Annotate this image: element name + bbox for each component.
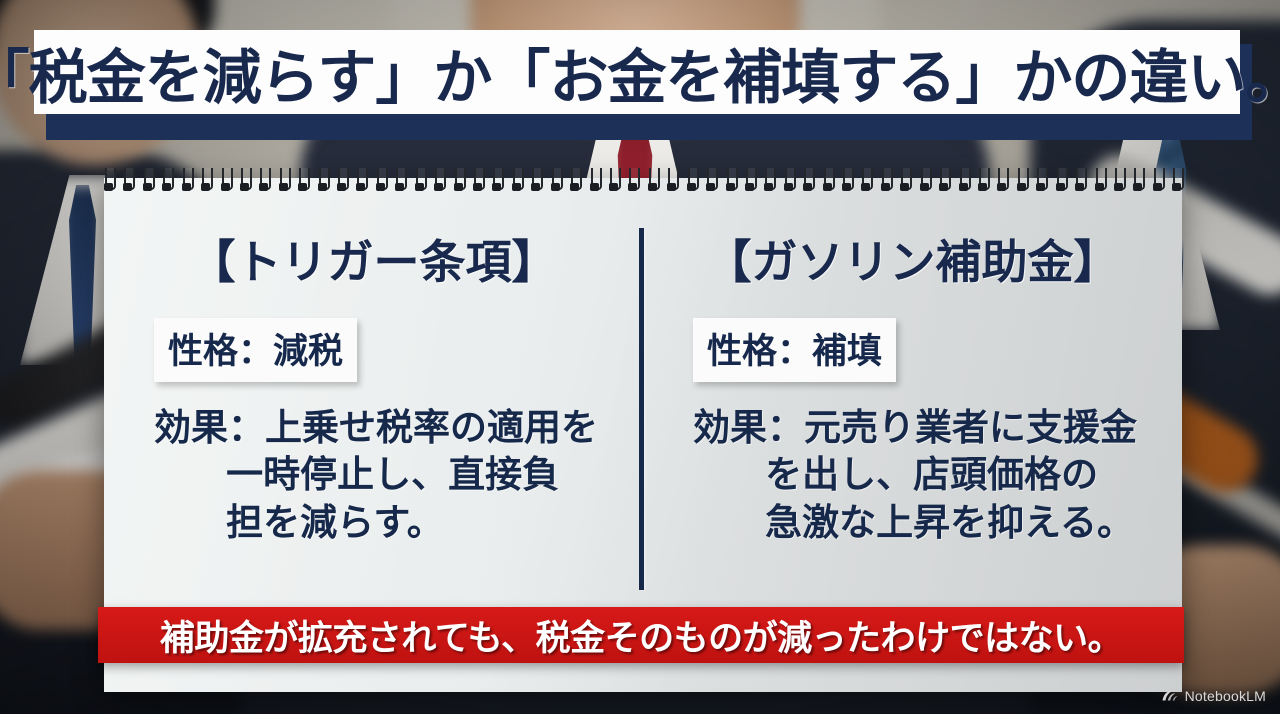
spiral-ring-icon [628, 168, 637, 194]
effect-line: を出し、店頭価格の [765, 451, 1154, 498]
spiral-ring-icon [201, 168, 210, 194]
spiral-ring-icon [959, 168, 968, 194]
spiral-ring-icon [492, 168, 501, 194]
spiral-ring-icon [162, 168, 171, 194]
spiral-ring-icon [240, 168, 249, 194]
column-gasoline-subsidy: 【ガソリン補助金】 性格：補填 効果：元売り業者に支援金 を出し、店頭価格の 急… [643, 196, 1182, 596]
spiral-ring-icon [337, 168, 346, 194]
spiral-ring-icon [395, 168, 404, 194]
spiral-ring-icon [900, 168, 909, 194]
spiral-ring-icon [609, 168, 618, 194]
effect-line: 担を減らす。 [226, 499, 615, 546]
spiral-ring-icon [123, 168, 132, 194]
spiral-ring-icon [473, 168, 482, 194]
column-trigger-clause: 【トリガー条項】 性格：減税 効果：上乗せ税率の適用を 一時停止し、直接負 担を… [104, 196, 643, 596]
spiral-ring-icon [1153, 168, 1162, 194]
notebooklm-icon [1161, 689, 1179, 703]
spiral-ring-icon [706, 168, 715, 194]
spiral-ring-icon [104, 168, 113, 194]
spiral-ring-icon [764, 168, 773, 194]
spiral-ring-icon [726, 168, 735, 194]
spiral-ring-icon [823, 168, 832, 194]
column-nature-chip: 性格：減税 [154, 318, 357, 382]
spiral-ring-icon [551, 168, 560, 194]
column-nature-chip: 性格：補填 [693, 318, 896, 382]
spiral-ring-icon [648, 168, 657, 194]
spiral-ring-icon [1056, 168, 1065, 194]
spiral-ring-icon [881, 168, 890, 194]
column-effect-text: 効果：元売り業者に支援金 を出し、店頭価格の 急激な上昇を抑える。 [693, 404, 1154, 546]
watermark-label: NotebookLM [1185, 688, 1266, 704]
spiral-ring-icon [1114, 168, 1123, 194]
column-heading: 【ガソリン補助金】 [671, 226, 1154, 292]
headline-box: 「税金を減らす」か「お金を補填する」かの違い。 [34, 30, 1240, 114]
column-heading: 【トリガー条項】 [132, 226, 615, 292]
effect-line: 一時停止し、直接負 [226, 451, 615, 498]
spiral-ring-icon [434, 168, 443, 194]
spiral-ring-icon [997, 168, 1006, 194]
effect-line: 効果：上乗せ税率の適用を [154, 404, 615, 451]
slide-canvas: 「税金を減らす」か「お金を補填する」かの違い。 【トリガー条項】 性格：減税 効… [0, 0, 1280, 714]
spiral-ring-icon [803, 168, 812, 194]
spiral-ring-icon [1172, 168, 1181, 194]
spiral-ring-icon [1075, 168, 1084, 194]
watermark: NotebookLM [1161, 688, 1266, 704]
spiral-ring-icon [784, 168, 793, 194]
spiral-ring-icon [143, 168, 152, 194]
spiral-ring-icon [415, 168, 424, 194]
headline-banner: 「税金を減らす」か「お金を補填する」かの違い。 [34, 30, 1252, 128]
spiral-ring-icon [842, 168, 851, 194]
spiral-ring-icon [1095, 168, 1104, 194]
spiral-ring-icon [1036, 168, 1045, 194]
spiral-ring-icon [376, 168, 385, 194]
spiral-ring-icon [279, 168, 288, 194]
spiral-ring-icon [920, 168, 929, 194]
spiral-ring-icon [318, 168, 327, 194]
comparison-columns: 【トリガー条項】 性格：減税 効果：上乗せ税率の適用を 一時停止し、直接負 担を… [104, 196, 1182, 596]
spiral-ring-icon [221, 168, 230, 194]
spiral-ring-icon [667, 168, 676, 194]
effect-line: 急激な上昇を抑える。 [765, 499, 1154, 546]
spiral-ring-icon [531, 168, 540, 194]
spiral-ring-icon [182, 168, 191, 194]
spiral-ring-icon [745, 168, 754, 194]
spiral-binding [104, 168, 1182, 194]
spiral-ring-icon [1133, 168, 1142, 194]
spiral-ring-icon [1017, 168, 1026, 194]
effect-line: 効果：元売り業者に支援金 [693, 404, 1154, 451]
spiral-ring-icon [298, 168, 307, 194]
page-title: 「税金を減らす」か「お金を補填する」かの違い。 [0, 30, 1280, 115]
spiral-ring-icon [939, 168, 948, 194]
spiral-ring-icon [687, 168, 696, 194]
spiral-ring-icon [978, 168, 987, 194]
column-effect-text: 効果：上乗せ税率の適用を 一時停止し、直接負 担を減らす。 [154, 404, 615, 546]
spiral-ring-icon [512, 168, 521, 194]
spiral-ring-icon [259, 168, 268, 194]
conclusion-text: 補助金が拡充されても、税金そのものが減ったわけではない。 [160, 610, 1122, 661]
spiral-ring-icon [454, 168, 463, 194]
conclusion-banner: 補助金が拡充されても、税金そのものが減ったわけではない。 [98, 607, 1184, 663]
spiral-ring-icon [570, 168, 579, 194]
spiral-ring-icon [590, 168, 599, 194]
spiral-ring-icon [356, 168, 365, 194]
spiral-ring-icon [861, 168, 870, 194]
